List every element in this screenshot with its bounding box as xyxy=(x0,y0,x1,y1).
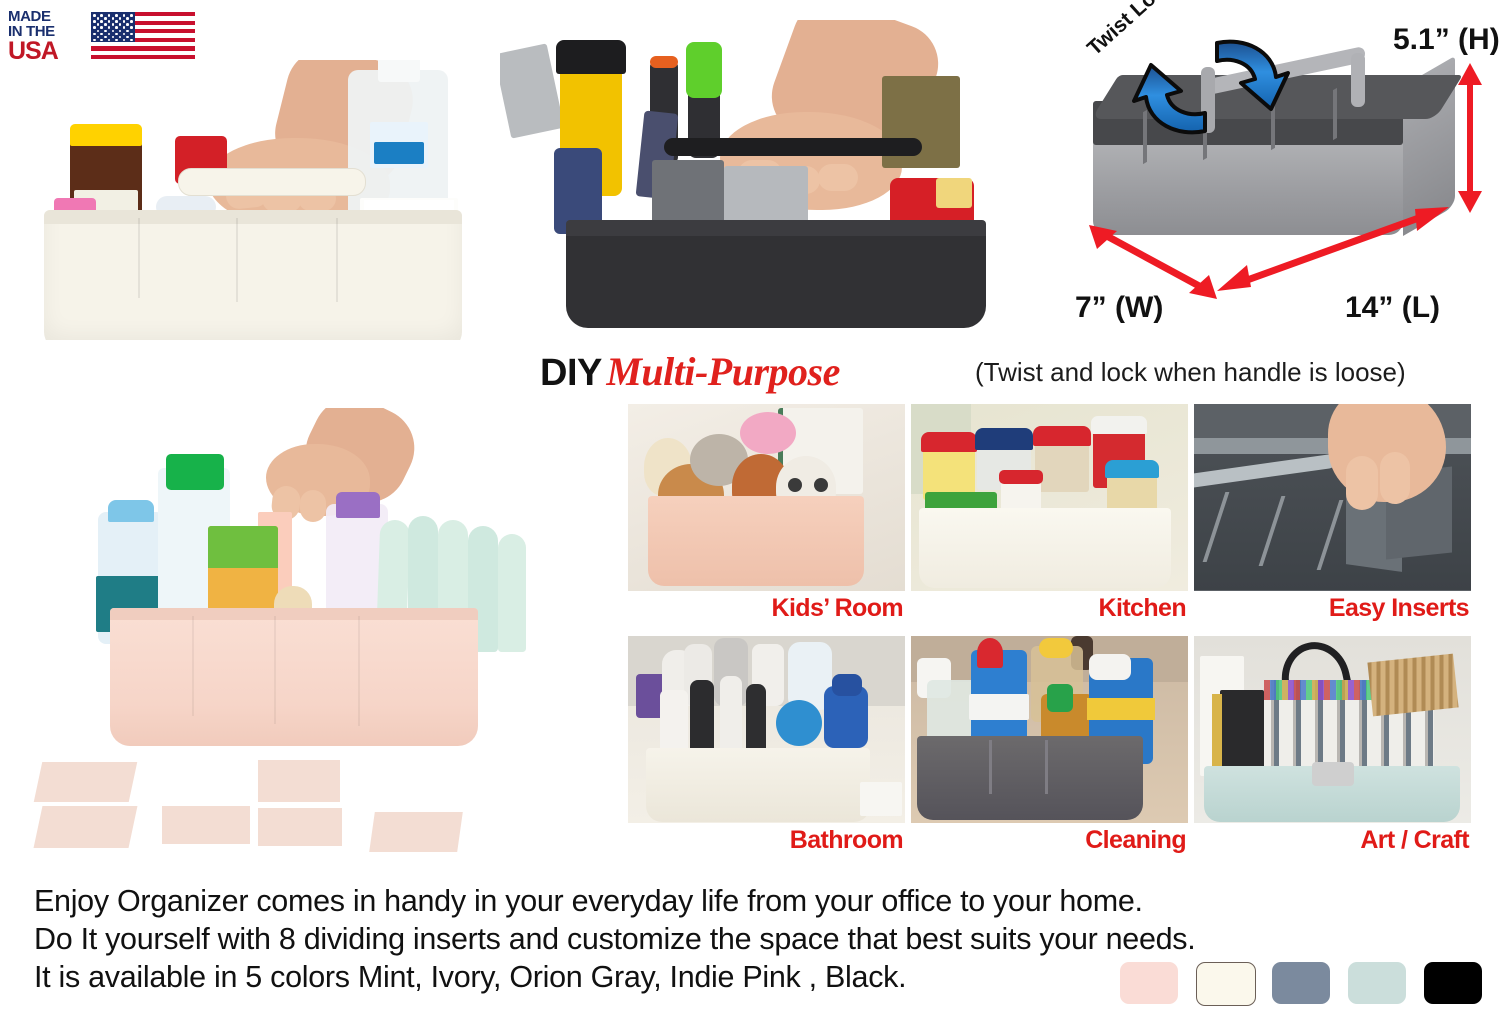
usecase-kids-room: Kids’ Room xyxy=(628,404,905,622)
twist-lock-arrows-icon xyxy=(1113,25,1303,185)
swatch-mint[interactable] xyxy=(1348,962,1406,1004)
dimension-height-label: 5.1” (H) xyxy=(1393,23,1500,57)
swatch-ivory[interactable] xyxy=(1196,962,1256,1006)
usecase-label: Cleaning xyxy=(1085,826,1186,855)
loose-divider-inserts xyxy=(30,760,550,850)
badge-line-1: MADE xyxy=(8,10,96,24)
organizer-bin-ivory xyxy=(44,210,462,340)
organizer-bin-black xyxy=(566,224,986,328)
usecase-kitchen: Kitchen xyxy=(911,404,1188,622)
twist-lock-note: (Twist and lock when handle is loose) xyxy=(975,357,1406,388)
usecase-label: Bathroom xyxy=(790,826,903,855)
carry-handle[interactable] xyxy=(664,138,922,156)
color-swatch-row xyxy=(1120,962,1492,1006)
dimension-diagram: Twist Lock 5.1” (H) 14” (L) 7” (W) xyxy=(1075,15,1495,345)
made-in-usa-text: MADE IN THE USA xyxy=(8,10,96,63)
usecase-bathroom: Bathroom xyxy=(628,636,905,854)
organizer-bin-pink xyxy=(110,608,478,746)
photo-ivory-organizer-medicine xyxy=(30,60,480,340)
length-arrow-icon xyxy=(1217,199,1449,297)
swatch-indie-pink[interactable] xyxy=(1120,962,1178,1004)
usecase-cleaning-image xyxy=(911,636,1188,823)
usecase-label: Kids’ Room xyxy=(771,594,903,623)
usecase-cleaning: Cleaning xyxy=(911,636,1188,854)
made-in-usa-badge: MADE IN THE USA xyxy=(8,8,198,66)
usecase-label: Easy Inserts xyxy=(1329,594,1469,623)
description-block: Enjoy Organizer comes in handy in your e… xyxy=(34,882,1114,996)
swatch-orion-gray[interactable] xyxy=(1272,962,1330,1004)
carry-handle[interactable] xyxy=(178,168,366,196)
usecase-art-craft-image xyxy=(1194,636,1471,823)
caliper xyxy=(500,43,564,138)
description-line-2: Do It yourself with 8 dividing inserts a… xyxy=(34,920,1114,958)
photo-black-organizer-tools xyxy=(500,20,1000,340)
photo-pink-organizer-baby xyxy=(60,408,560,748)
usecase-grid: Kids’ Room Kitchen xyxy=(628,404,1490,856)
usecase-kitchen-image xyxy=(911,404,1188,591)
swatch-black[interactable] xyxy=(1424,962,1482,1004)
usecase-label: Art / Craft xyxy=(1360,826,1469,855)
width-arrow-icon xyxy=(1089,221,1219,303)
pencils xyxy=(1367,654,1458,717)
usecase-easy-inserts: Easy Inserts xyxy=(1194,404,1471,622)
headline-multi-purpose: Multi-Purpose xyxy=(606,349,840,394)
description-line-3: It is available in 5 colors Mint, Ivory,… xyxy=(34,958,1114,996)
headline-diy: DIY xyxy=(540,352,602,394)
infographic-canvas: MADE IN THE USA xyxy=(0,0,1500,1010)
usecase-art-craft: Art / Craft xyxy=(1194,636,1471,854)
headline-diy-multipurpose: DIY Multi-Purpose xyxy=(540,348,840,394)
usecase-kids-room-image xyxy=(628,404,905,591)
description-line-1: Enjoy Organizer comes in handy in your e… xyxy=(34,882,1114,920)
height-arrow-icon xyxy=(1458,63,1482,213)
caddy-handle xyxy=(1312,762,1354,786)
usecase-easy-inserts-image xyxy=(1194,404,1471,591)
usecase-label: Kitchen xyxy=(1099,594,1186,623)
usecase-bathroom-image xyxy=(628,636,905,823)
